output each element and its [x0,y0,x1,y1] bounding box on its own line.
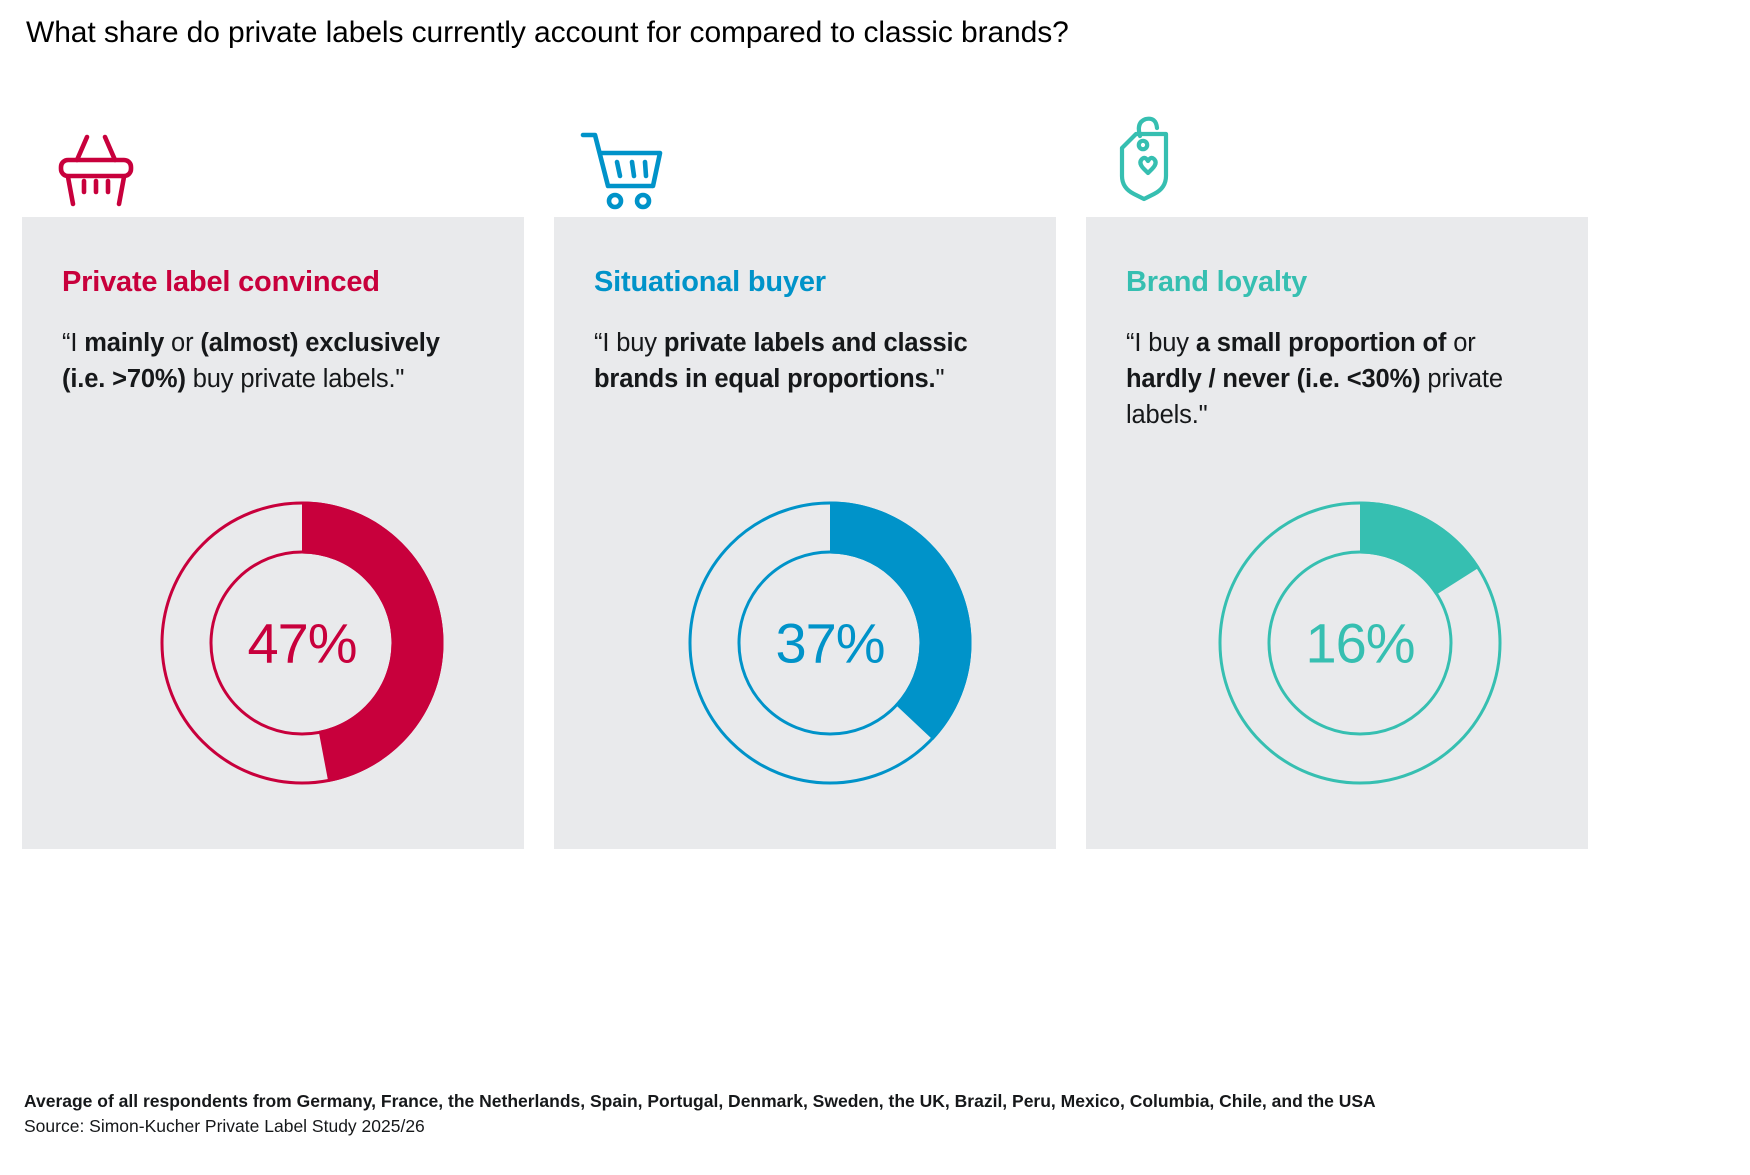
price-tag-heart-icon [1100,114,1192,206]
card-heading: Brand loyalty [1126,266,1307,299]
card-heading: Private label convinced [62,266,380,299]
card-quote: “I buy a small proportion of or hardly /… [1126,325,1546,433]
card-heading: Situational buyer [594,266,826,299]
card-situational-buyer: Situational buyer “I buy private labels … [554,120,1056,860]
shopping-cart-icon [576,122,668,214]
donut-chart-37: 37% [676,489,984,797]
donut-value-label: 37% [676,611,984,676]
donut-value-label: 47% [148,611,456,676]
donut-chart-16: 16% [1206,489,1514,797]
card-brand-loyalty: Brand loyalty “I buy a small proportion … [1086,120,1588,860]
footer-source: Source: Simon-Kucher Private Label Study… [24,1114,1724,1139]
footer-respondents-note: Average of all respondents from Germany,… [24,1089,1724,1114]
card-quote: “I buy private labels and classic brands… [594,325,1014,397]
page-title: What share do private labels currently a… [26,16,1069,50]
shopping-basket-icon [50,120,142,212]
donut-value-label: 16% [1206,611,1514,676]
cards-row: Private label convinced “I mainly or (al… [0,120,1750,880]
card-quote: “I mainly or (almost) exclusively (i.e. … [62,325,482,397]
card-private-label-convinced: Private label convinced “I mainly or (al… [22,120,524,860]
donut-chart-47: 47% [148,489,456,797]
footer: Average of all respondents from Germany,… [24,1089,1724,1139]
